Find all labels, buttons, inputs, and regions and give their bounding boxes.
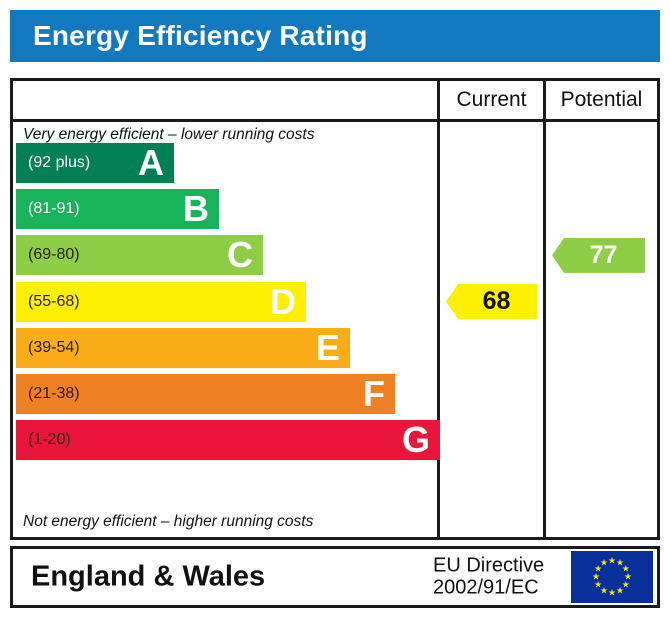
eu-star-icon: ★ [608,557,616,566]
eu-flag-icon: ★★★★★★★★★★★★ [571,551,653,603]
band-f: (21-38)F [16,374,395,414]
eu-star-icon: ★ [608,589,616,598]
column-divider-current [437,122,440,537]
current-rating-arrow: 68 [446,284,537,319]
band-c: (69-80)C [16,235,263,275]
eu-star-icon: ★ [592,573,600,582]
eu-directive-line1: EU Directive [433,555,544,577]
region-label: England & Wales [31,561,265,594]
band-range-g: (1-20) [28,431,71,449]
band-letter-b: B [183,191,209,227]
band-letter-d: D [270,284,296,320]
band-a: (92 plus)A [16,143,174,183]
page-title: Energy Efficiency Rating [33,20,368,52]
rating-table: Current Potential Very energy efficient … [10,78,660,540]
caption-not-efficient: Not energy efficient – higher running co… [23,513,427,531]
caption-very-efficient: Very energy efficient – lower running co… [23,126,427,144]
chart-title-bar: Energy Efficiency Rating [10,10,660,62]
eu-directive-line2: 2002/91/EC [433,577,544,599]
energy-efficiency-certificate: Energy Efficiency Rating Current Potenti… [0,0,670,627]
band-b: (81-91)B [16,189,219,229]
band-range-d: (55-68) [28,293,80,311]
potential-rating-arrow: 77 [552,238,645,273]
band-letter-g: G [402,422,430,458]
band-d: (55-68)D [16,282,306,322]
band-letter-c: C [227,237,253,273]
band-list: (92 plus)A(81-91)B(69-80)C(55-68)D(39-54… [16,143,434,511]
certificate-footer: England & Wales EU Directive 2002/91/EC … [10,546,660,608]
band-range-c: (69-80) [28,246,80,264]
band-range-b: (81-91) [28,200,80,218]
potential-rating-value: 77 [590,243,618,268]
column-header-blank [13,81,437,119]
eu-star-icon: ★ [616,586,624,595]
column-header-potential: Potential [543,81,657,119]
band-letter-f: F [363,376,385,412]
column-divider-potential [543,122,546,537]
band-letter-e: E [316,330,340,366]
column-header-current: Current [437,81,543,119]
band-range-f: (21-38) [28,385,80,403]
eu-star-icon: ★ [600,559,608,568]
band-letter-a: A [138,145,164,181]
eu-star-icon: ★ [594,581,602,590]
eu-directive-label: EU Directive 2002/91/EC [433,555,544,600]
current-rating-value: 68 [483,289,511,314]
band-range-e: (39-54) [28,339,80,357]
band-range-a: (92 plus) [28,154,90,172]
table-header-row: Current Potential [13,81,657,122]
band-g: (1-20)G [16,420,440,460]
band-e: (39-54)E [16,328,350,368]
